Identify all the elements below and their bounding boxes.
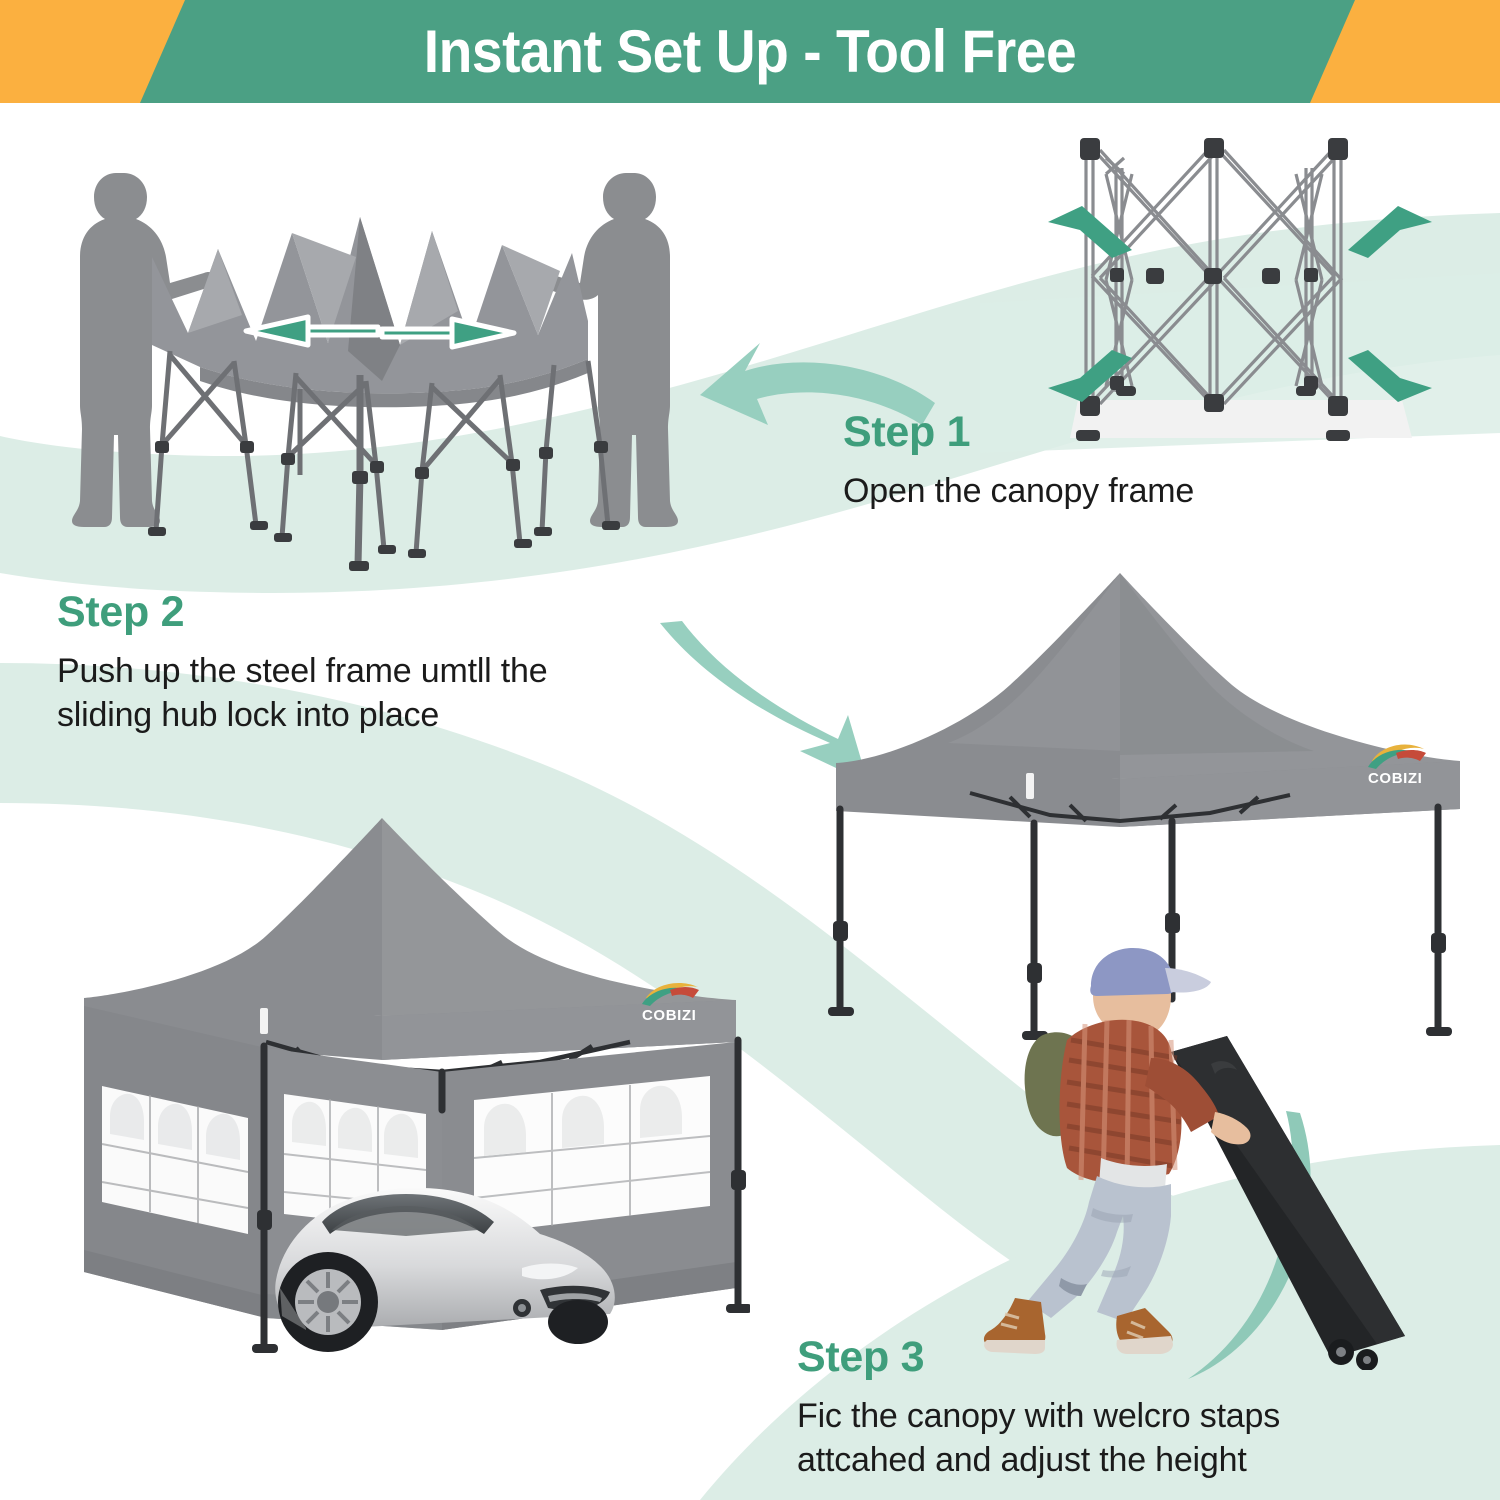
car-wheel-front xyxy=(278,1252,378,1352)
page-title: Instant Set Up - Tool Free xyxy=(60,0,1440,103)
car-wheel-rear xyxy=(548,1300,608,1344)
wheeled-carry-bag xyxy=(1171,1036,1405,1370)
step-3-body-line2: attcahed and adjust the height xyxy=(797,1438,1357,1482)
header-banner: Instant Set Up - Tool Free xyxy=(0,0,1500,103)
infographic-page: Instant Set Up - Tool Free xyxy=(0,0,1500,1500)
step-1-title: Step 1 xyxy=(843,408,1303,457)
step-3-body-line1: Fic the canopy with welcro staps xyxy=(797,1394,1357,1438)
svg-text:COBIZI: COBIZI xyxy=(1368,770,1422,787)
canopy-roof xyxy=(836,573,1460,779)
valance-velcro-strap xyxy=(260,1008,268,1034)
canopy-roof xyxy=(84,818,736,1016)
step-3-body: Fic the canopy with welcro staps attcahe… xyxy=(797,1394,1357,1482)
step-1-block: Step 1 Open the canopy frame xyxy=(843,408,1303,513)
canopy-leg-adjusters xyxy=(155,441,608,484)
svg-text:COBIZI: COBIZI xyxy=(642,1007,696,1024)
step-1-body: Open the canopy frame xyxy=(843,469,1303,513)
step-2-body-line1: Push up the steel frame umtll the xyxy=(57,649,647,693)
step-3-block: Step 3 Fic the canopy with welcro staps … xyxy=(797,1333,1357,1482)
step-2-block: Step 2 Push up the steel frame umtll the… xyxy=(57,588,647,737)
illustration-man-with-carrybag xyxy=(975,940,1405,1370)
illustration-unfold-canopy xyxy=(60,145,690,575)
expand-arrows xyxy=(1048,206,1432,402)
step-2-title: Step 2 xyxy=(57,588,647,637)
illustration-canopy-sidewalls-car: COBIZI xyxy=(70,810,750,1390)
step-2-body-line2: sliding hub lock into place xyxy=(57,693,647,737)
valance-velcro-strap xyxy=(1026,773,1034,799)
step-2-body: Push up the steel frame umtll the slidin… xyxy=(57,649,647,737)
step-3-title: Step 3 xyxy=(797,1333,1357,1382)
jeans xyxy=(1027,1176,1171,1322)
sidewall-left xyxy=(84,1006,266,1318)
canopy-center-pole xyxy=(358,375,360,565)
